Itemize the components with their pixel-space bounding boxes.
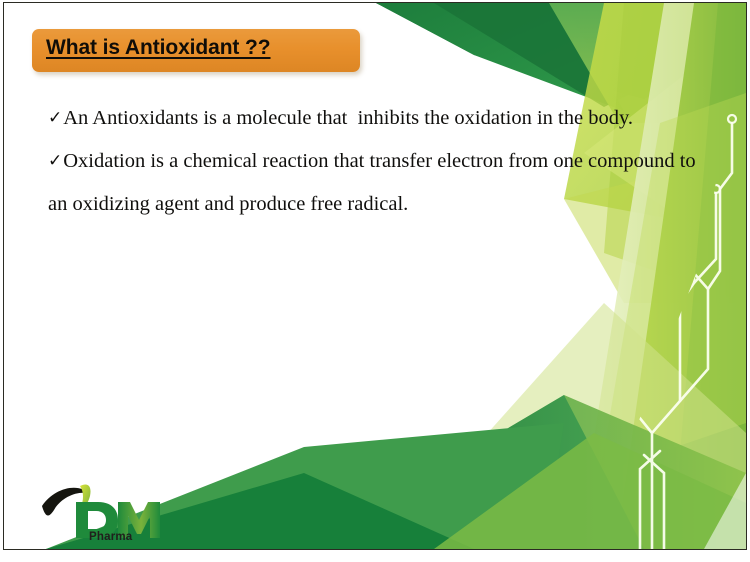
bullet-item: ✓An Antioxidants is a molecule that inhi… (48, 97, 708, 140)
slide: What is Antioxidant ?? ✓An Antioxidants … (0, 0, 750, 562)
check-icon: ✓ (48, 108, 63, 128)
decorative-green-graphic (4, 3, 746, 549)
body-content: ✓An Antioxidants is a molecule that inhi… (48, 97, 708, 226)
slide-bottom-margin (0, 550, 750, 562)
check-icon: ✓ (48, 151, 63, 171)
logo-wordmark: Pharma (89, 531, 132, 543)
logo: Pharma (40, 480, 162, 550)
page-title: What is Antioxidant ?? (46, 36, 271, 60)
bullet-text: Oxidation is a chemical reaction that tr… (48, 150, 701, 215)
slide-canvas: What is Antioxidant ?? ✓An Antioxidants … (3, 2, 747, 550)
bullet-text: An Antioxidants is a molecule that inhib… (63, 107, 633, 129)
bullet-item: ✓Oxidation is a chemical reaction that t… (48, 140, 708, 226)
title-banner: What is Antioxidant ?? (32, 29, 360, 72)
